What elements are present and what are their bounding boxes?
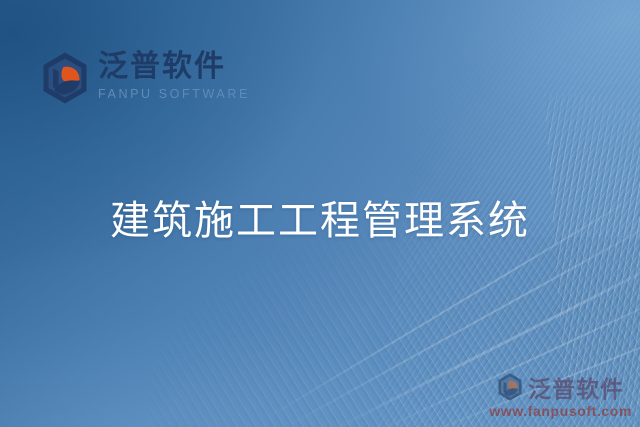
brand-name-en: FANPU SOFTWARE: [98, 87, 250, 101]
brand-logo: 泛普软件 FANPU SOFTWARE: [42, 50, 250, 104]
fanpu-hexagon-logo-icon: [497, 373, 523, 401]
watermark-url: www.fanpusoft.com: [489, 403, 632, 419]
brand-wordmark: 泛普软件 FANPU SOFTWARE: [98, 50, 250, 101]
watermark: 泛普软件 www.fanpusoft.com: [489, 370, 632, 419]
brand-name-cn: 泛普软件: [98, 50, 250, 85]
page-title: 建筑施工工程管理系统: [110, 196, 530, 246]
watermark-name-cn: 泛普软件: [528, 370, 624, 404]
watermark-logo-row: 泛普软件: [497, 370, 624, 404]
fanpu-hexagon-logo-icon: [42, 52, 88, 104]
banner-canvas: 泛普软件 FANPU SOFTWARE 建筑施工工程管理系统 泛普软件 www.…: [0, 0, 640, 427]
